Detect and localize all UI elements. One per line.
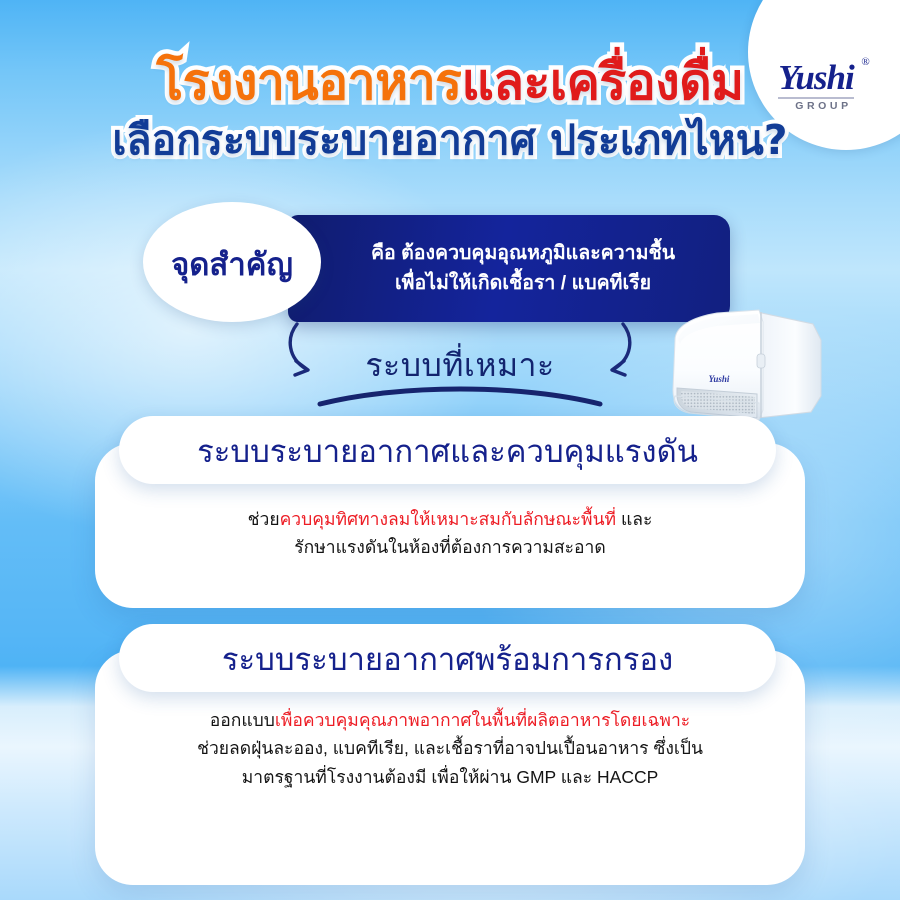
system-card-2-title-pill: ระบบระบายอากาศพร้อมการกรอง: [119, 624, 776, 692]
key-point-banner-line-1: คือ ต้องควบคุมอุณหภูมิและความชื้น: [371, 239, 675, 268]
card-2-text-a: ออกแบบ: [210, 710, 275, 730]
key-point-banner-line-2: เพื่อไม่ให้เกิดเชื้อรา / แบคทีเรีย: [371, 269, 675, 298]
headline-line-1-red: และเครื่องดื่ม: [462, 53, 744, 111]
card-2-highlight: เพื่อควบคุมคุณภาพอากาศในพื้นที่ผลิตอาหาร…: [275, 710, 690, 730]
key-point-badge-label: จุดสำคัญ: [171, 249, 293, 280]
card-1-text-a: ช่วย: [248, 509, 280, 529]
card-1-text-b: และ: [616, 509, 652, 529]
headline-block: โรงงานอาหารและเครื่องดื่ม เลือกระบบระบาย…: [0, 56, 900, 162]
arrow-band-underline: [320, 389, 600, 404]
system-card-2-title: ระบบระบายอากาศพร้อมการกรอง: [222, 644, 673, 675]
headline-line-1-orange: โรงงานอาหาร: [156, 53, 461, 111]
system-card-1-body-line-1: ช่วยควบคุมทิศทางลมให้เหมาะสมกับลักษณะพื้…: [143, 505, 757, 533]
suitable-system-label: ระบบที่เหมาะ: [280, 340, 640, 391]
system-card-2-body-line-2: ช่วยลดฝุ่นละออง, แบคทีเรีย, และเชื้อราที…: [143, 734, 757, 762]
system-card-1-title-pill: ระบบระบายอากาศและควบคุมแรงดัน: [119, 416, 776, 484]
infographic-poster: Yushi® GROUP โรงงานอาหารและเครื่องดื่ม เ…: [0, 0, 900, 900]
headline-line-2: เลือกระบบระบายอากาศ ประเภทไหน?: [0, 119, 900, 162]
system-card-2-body-line-1: ออกแบบเพื่อควบคุมคุณภาพอากาศในพื้นที่ผลิ…: [143, 706, 757, 734]
system-card-1-title: ระบบระบายอากาศและควบคุมแรงดัน: [197, 436, 698, 467]
system-card-1-body: ช่วยควบคุมทิศทางลมให้เหมาะสมกับลักษณะพื้…: [95, 505, 805, 562]
key-point-badge: จุดสำคัญ: [143, 202, 321, 322]
suitable-system-arrow-band: ระบบที่เหมาะ: [280, 322, 640, 410]
system-card-2-body-line-3: มาตรฐานที่โรงงานต้องมี เพื่อให้ผ่าน GMP …: [143, 763, 757, 791]
svg-text:Yushi: Yushi: [709, 374, 730, 384]
system-card-2-body: ออกแบบเพื่อควบคุมคุณภาพอากาศในพื้นที่ผลิ…: [95, 706, 805, 791]
card-1-highlight: ควบคุมทิศทางลมให้เหมาะสมกับลักษณะพื้นที่: [280, 509, 617, 529]
headline-line-1: โรงงานอาหารและเครื่องดื่ม: [0, 56, 900, 109]
key-point-banner-text: คือ ต้องควบคุมอุณหภูมิและความชื้น เพื่อไ…: [327, 239, 691, 298]
system-card-1-body-line-2: รักษาแรงดันในห้องที่ต้องการความสะอาด: [143, 533, 757, 561]
